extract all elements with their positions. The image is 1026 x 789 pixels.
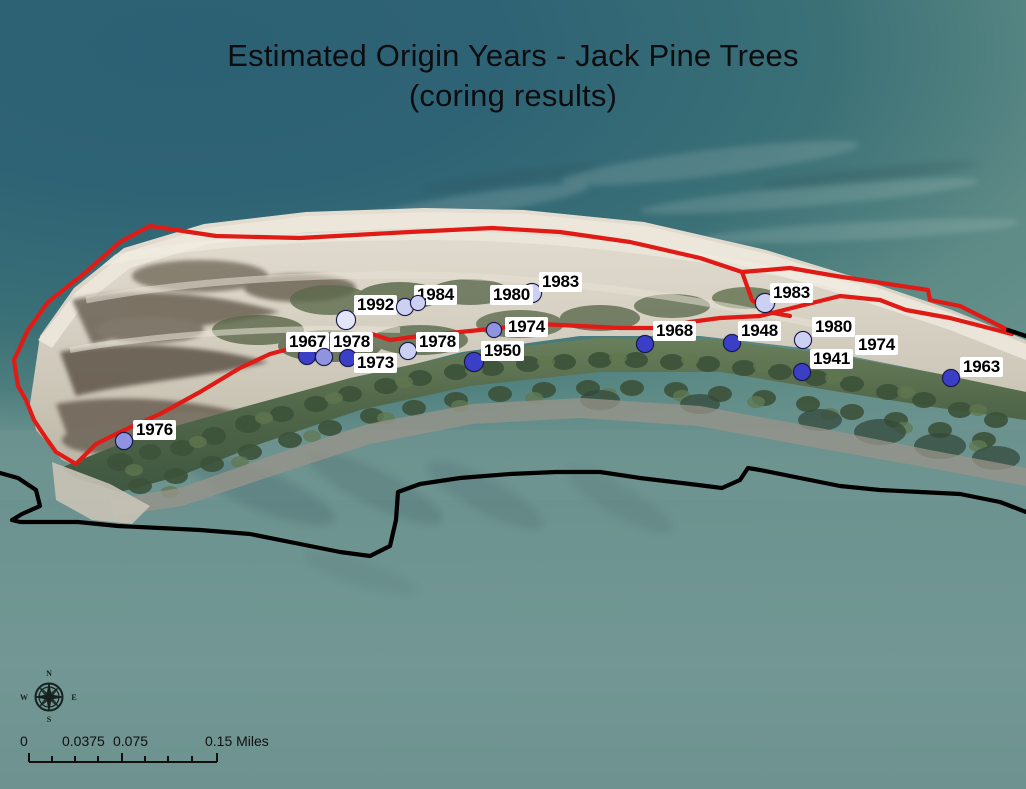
- scale-bar-tick-label: 0.15 Miles: [205, 733, 269, 750]
- coring-point-marker[interactable]: [636, 335, 654, 353]
- origin-year-label: 1980: [812, 317, 855, 337]
- compass-north-label: N: [46, 669, 52, 678]
- origin-year-label: 1983: [770, 283, 813, 303]
- page-title: Estimated Origin Years - Jack Pine Trees…: [0, 36, 1026, 116]
- title-line-2: (coring results): [0, 76, 1026, 116]
- scale-bar: 00.03750.0750.15 Miles: [20, 733, 225, 769]
- origin-year-label: 1968: [653, 321, 696, 341]
- scale-bar-tick-label: 0.075: [113, 733, 148, 750]
- origin-year-label: 1980: [490, 285, 533, 305]
- origin-year-label: 1978: [416, 332, 459, 352]
- map-figure: Estimated Origin Years - Jack Pine Trees…: [0, 0, 1026, 789]
- coring-point-marker[interactable]: [793, 363, 811, 381]
- coring-point-marker[interactable]: [486, 322, 502, 338]
- origin-year-label: 1948: [738, 321, 781, 341]
- scale-bar-tick-label: 0.0375: [62, 733, 105, 750]
- scale-bar-tick-label: 0: [20, 733, 28, 750]
- coring-point-marker[interactable]: [399, 342, 417, 360]
- boundary-overlay: [0, 0, 1026, 789]
- scale-bar-labels: 00.03750.0750.15 Miles: [20, 733, 225, 750]
- black-shoreline-boundary: [0, 468, 1026, 556]
- origin-year-label: 1976: [133, 420, 176, 440]
- origin-year-label: 1941: [810, 349, 853, 369]
- origin-year-label: 1974: [505, 317, 548, 337]
- compass-east-label: E: [71, 693, 76, 702]
- origin-year-label: 1963: [960, 357, 1003, 377]
- origin-year-label: 1973: [354, 353, 397, 373]
- origin-year-label: 1983: [539, 272, 582, 292]
- compass-rose: N S E W: [18, 664, 80, 726]
- origin-year-label: 1974: [855, 335, 898, 355]
- origin-year-label: 1950: [481, 341, 524, 361]
- origin-year-label: 1992: [354, 295, 397, 315]
- compass-west-label: W: [20, 693, 28, 702]
- scale-bar-ticks: [28, 752, 218, 766]
- coring-point-marker[interactable]: [336, 310, 356, 330]
- compass-south-label: S: [47, 715, 52, 724]
- coring-point-marker[interactable]: [942, 369, 960, 387]
- coring-point-marker[interactable]: [794, 331, 812, 349]
- coring-point-marker[interactable]: [115, 432, 133, 450]
- coring-point-marker[interactable]: [410, 295, 426, 311]
- title-line-1: Estimated Origin Years - Jack Pine Trees: [0, 36, 1026, 76]
